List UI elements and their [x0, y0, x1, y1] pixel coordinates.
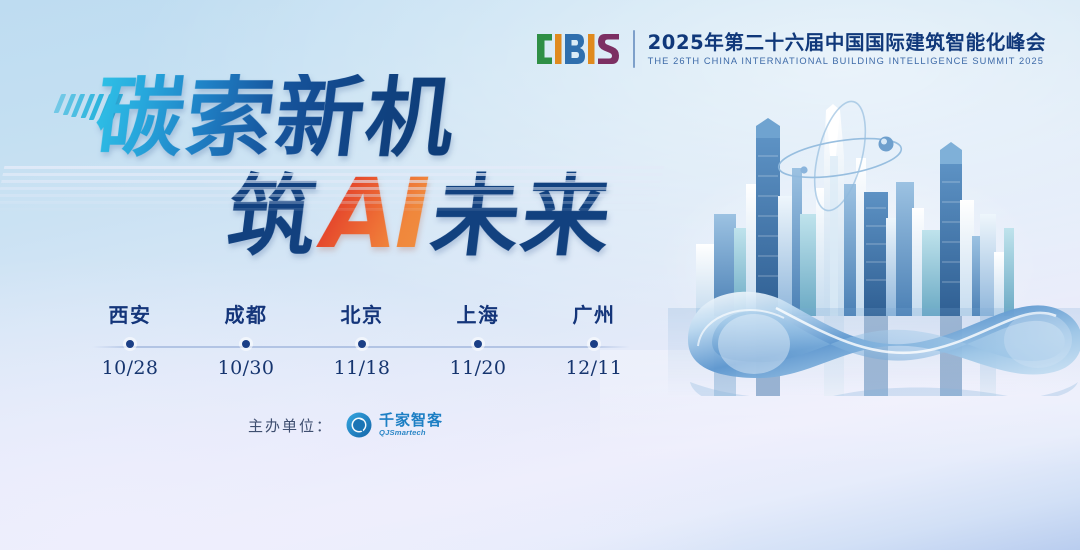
- timeline-stop[interactable]: 成都10/30: [188, 305, 304, 389]
- stop-marker-dot: [474, 340, 482, 348]
- header-divider: [633, 30, 635, 68]
- headline-line-2-after: 未来: [427, 173, 618, 261]
- organizer-block: 主办单位： 千家智客 QJSmartech: [248, 412, 443, 438]
- stop-date-label: 11/20: [450, 359, 507, 378]
- q-speech-bubble-icon: [346, 412, 372, 438]
- stop-marker-dot: [590, 340, 598, 348]
- smart-city-ribbon-illustration: [668, 96, 1080, 396]
- timeline-stop[interactable]: 广州12/11: [536, 305, 652, 389]
- headline-ai-accent: AI: [309, 166, 442, 262]
- city-tour-timeline: 西安10/28成都10/30北京11/18上海11/20广州12/11: [72, 305, 652, 389]
- stop-city-label: 广州: [573, 305, 616, 325]
- city-skyline: [696, 104, 1014, 316]
- headline-line-1: 碳索新机: [91, 74, 462, 162]
- stop-date-label: 10/28: [102, 359, 159, 378]
- stop-marker-dot: [358, 340, 366, 348]
- timeline-stop[interactable]: 上海11/20: [420, 305, 536, 389]
- timeline-stop[interactable]: 西安10/28: [72, 305, 188, 389]
- header-title-block: 2025年第二十六届中国国际建筑智能化峰会 THE 26TH CHINA INT…: [648, 32, 1046, 66]
- organizer-name-cn: 千家智客: [379, 413, 443, 428]
- summit-title-en: THE 26TH CHINA INTERNATIONAL BUILDING IN…: [648, 56, 1046, 66]
- stop-marker-dot: [126, 340, 134, 348]
- stop-city-label: 北京: [341, 305, 384, 325]
- stop-city-label: 上海: [457, 305, 500, 325]
- organizer-name-en: QJSmartech: [379, 429, 443, 437]
- headline-line-2-before: 筑: [223, 173, 324, 261]
- stop-marker-dot: [242, 340, 250, 348]
- poster-headline: 碳索新机 筑AI未来: [0, 74, 660, 276]
- timeline-stop[interactable]: 北京11/18: [304, 305, 420, 389]
- stop-city-label: 西安: [109, 305, 152, 325]
- cibis-logo: [536, 32, 620, 66]
- event-poster: 2025年第二十六届中国国际建筑智能化峰会 THE 26TH CHINA INT…: [0, 0, 1080, 550]
- organizer-label: 主办单位：: [248, 415, 333, 436]
- timeline-stops: 西安10/28成都10/30北京11/18上海11/20广州12/11: [72, 305, 652, 389]
- stop-date-label: 12/11: [566, 359, 623, 378]
- organizer-brand[interactable]: 千家智客 QJSmartech: [346, 412, 443, 438]
- stop-date-label: 10/30: [218, 359, 275, 378]
- orbit-node: [879, 137, 894, 152]
- organizer-names: 千家智客 QJSmartech: [379, 413, 443, 437]
- stop-city-label: 成都: [225, 305, 268, 325]
- summit-header: 2025年第二十六届中国国际建筑智能化峰会 THE 26TH CHINA INT…: [536, 30, 1046, 68]
- summit-title-cn: 2025年第二十六届中国国际建筑智能化峰会: [648, 32, 1046, 53]
- stop-date-label: 11/18: [334, 359, 391, 378]
- headline-line-2-row: 筑AI未来: [0, 166, 660, 276]
